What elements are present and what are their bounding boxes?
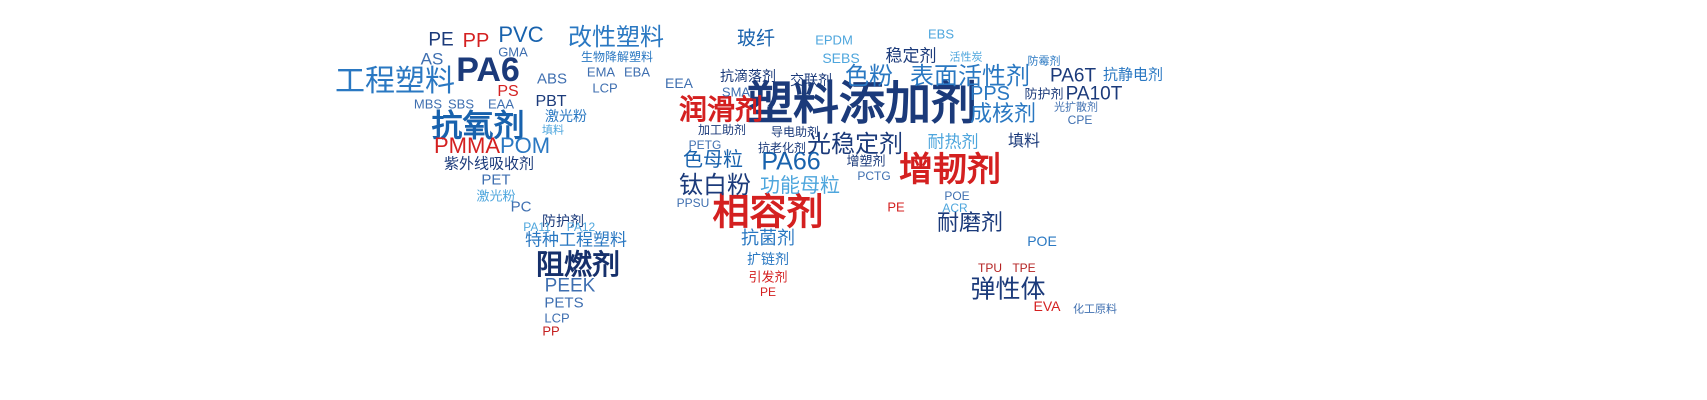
cloud-word[interactable]: 色粉: [845, 65, 893, 89]
cloud-word[interactable]: PPSU: [677, 197, 710, 209]
cloud-word[interactable]: GMA: [498, 46, 528, 59]
cloud-word[interactable]: 抗静电剂: [1103, 68, 1163, 83]
cloud-word[interactable]: 防护剂: [1024, 88, 1063, 101]
cloud-word[interactable]: 交联剂: [790, 73, 832, 87]
cloud-word[interactable]: PA11: [523, 221, 551, 233]
cloud-word[interactable]: PE: [428, 31, 453, 50]
cloud-word[interactable]: 耐热剂: [928, 134, 979, 151]
cloud-word[interactable]: MBS: [414, 98, 442, 111]
cloud-word[interactable]: 功能母粒: [760, 176, 840, 196]
cloud-word[interactable]: 改性塑料: [568, 26, 664, 50]
cloud-word[interactable]: POM: [500, 135, 550, 157]
cloud-word[interactable]: PE: [760, 286, 776, 298]
cloud-word[interactable]: 耐磨剂: [937, 212, 1003, 234]
cloud-word[interactable]: POE: [1027, 234, 1057, 248]
cloud-word[interactable]: EEA: [665, 76, 693, 90]
cloud-word[interactable]: 生物降解塑料: [581, 51, 653, 63]
cloud-word[interactable]: SBS: [448, 98, 474, 111]
cloud-word[interactable]: PP: [463, 31, 490, 51]
cloud-word[interactable]: ACR: [942, 202, 967, 214]
cloud-word[interactable]: CPE: [1068, 114, 1093, 126]
cloud-word[interactable]: 引发剂: [748, 271, 787, 284]
cloud-word[interactable]: 化工原料: [1073, 305, 1117, 316]
cloud-word[interactable]: 稳定剂: [886, 48, 937, 65]
cloud-word[interactable]: TPU: [978, 262, 1002, 274]
cloud-word[interactable]: 加工助剂: [698, 124, 746, 136]
cloud-word[interactable]: 填料: [542, 126, 564, 137]
cloud-word[interactable]: SMA: [722, 86, 750, 99]
cloud-word[interactable]: 紫外线吸收剂: [444, 157, 534, 172]
cloud-word[interactable]: TPE: [1012, 262, 1035, 274]
cloud-word[interactable]: 润滑剂: [679, 96, 763, 124]
cloud-word[interactable]: ABS: [537, 72, 567, 87]
cloud-word[interactable]: 工程塑料: [335, 67, 455, 97]
cloud-word[interactable]: 色母粒: [683, 150, 743, 170]
cloud-word[interactable]: 扩链剂: [747, 252, 789, 266]
cloud-word[interactable]: 成核剂: [970, 103, 1036, 125]
cloud-word[interactable]: PE: [887, 201, 904, 214]
cloud-word[interactable]: PET: [481, 173, 510, 188]
cloud-word[interactable]: 钛白粉: [679, 174, 751, 198]
cloud-word[interactable]: 抗老化剂: [758, 142, 806, 154]
cloud-word[interactable]: 相容剂: [713, 194, 824, 231]
cloud-word[interactable]: PEEK: [545, 277, 596, 296]
cloud-word[interactable]: 激光粉: [545, 109, 587, 123]
cloud-word[interactable]: 防霉剂: [1028, 57, 1061, 68]
cloud-word[interactable]: 玻纤: [737, 30, 775, 49]
cloud-word[interactable]: SEBS: [822, 51, 859, 65]
cloud-word[interactable]: 激光粉: [476, 190, 515, 203]
cloud-word[interactable]: 抗滴落剂: [720, 69, 776, 83]
cloud-word[interactable]: 活性炭: [950, 53, 983, 64]
cloud-word[interactable]: PVC: [498, 24, 543, 46]
cloud-word[interactable]: PETS: [544, 296, 583, 311]
cloud-word[interactable]: 抗菌剂: [741, 229, 795, 247]
cloud-word[interactable]: EPDM: [815, 34, 853, 47]
cloud-word[interactable]: 导电助剂: [771, 126, 819, 138]
cloud-word[interactable]: EBA: [624, 66, 650, 79]
cloud-word[interactable]: EMA: [587, 66, 615, 79]
cloud-word[interactable]: PMMA: [434, 135, 500, 157]
cloud-word[interactable]: PP: [542, 325, 559, 338]
cloud-word[interactable]: PBT: [535, 94, 566, 110]
cloud-word[interactable]: EVA: [1034, 299, 1061, 313]
cloud-word[interactable]: 填料: [1008, 134, 1040, 150]
cloud-word[interactable]: AS: [421, 51, 444, 68]
cloud-word[interactable]: 特种工程塑料: [525, 232, 627, 249]
cloud-word[interactable]: EBS: [928, 28, 954, 41]
cloud-word[interactable]: 增韧剂: [899, 153, 1001, 187]
cloud-word[interactable]: PETG: [689, 139, 722, 151]
cloud-word[interactable]: PCTG: [857, 170, 890, 182]
word-cloud-canvas: 塑料添加剂相容剂增韧剂工程塑料抗氧剂PA6润滑剂阻燃剂改性塑料表面活性剂光稳定剂…: [0, 0, 1707, 400]
cloud-word[interactable]: LCP: [592, 82, 617, 95]
cloud-word[interactable]: PPS: [970, 84, 1010, 104]
cloud-word[interactable]: EAA: [488, 98, 514, 111]
cloud-word[interactable]: 增塑剂: [846, 155, 885, 168]
cloud-word[interactable]: 光扩散剂: [1054, 103, 1098, 114]
cloud-word[interactable]: PA12: [567, 221, 595, 233]
